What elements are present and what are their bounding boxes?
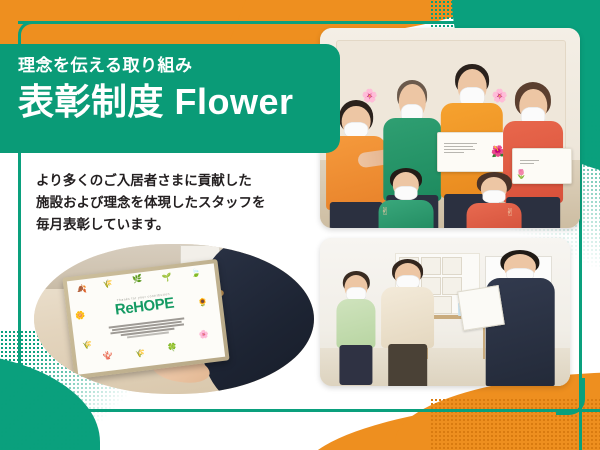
photo-award-ceremony: 表彰状を読み上げる表彰式の様子 <box>320 238 570 386</box>
lead-line-1: より多くのご入居者さまに貢献した <box>36 170 316 192</box>
photo-framed-certificate: 額装された表彰状を持つスタッフ 🍂 🌾 🌿 🌱 🍃 🌼 🌻 🌾 🪸 <box>34 244 314 394</box>
certificate-frame: 🍂 🌾 🌿 🌱 🍃 🌼 🌻 🌾 🪸 🌾 🍀 🌸 Thanks for your … <box>62 259 229 379</box>
photo-staff-group: 表彰状と記念品を持つ介護スタッフの集合写真 🌸 🌸 <box>320 28 580 228</box>
group-peace-sign-left: ✌ <box>381 205 390 218</box>
poster-canvas: 表彰状と記念品を持つ介護スタッフの集合写真 🌸 🌸 <box>0 0 600 450</box>
botanical-grass: 🌾 <box>135 349 146 358</box>
ceremony-person-recipient <box>380 259 435 386</box>
headline-banner: 理念を伝える取り組み 表彰制度 Flower <box>0 44 340 153</box>
group-person-front-right: ✌ <box>466 172 523 228</box>
certificate-logo-block: Thanks for your contribution ReHOPE <box>70 286 219 323</box>
halftone-dots-bottom-right <box>430 398 600 450</box>
group-certificate-center: 🌺 <box>437 132 512 172</box>
botanical-coral: 🪸 <box>102 352 113 361</box>
rule-top-horizontal <box>18 21 600 24</box>
lead-paragraph: より多くのご入居者さまに貢献した 施設および理念を体現したスタッフを 毎月表彰し… <box>36 170 316 236</box>
certificate-paper: 🍂 🌾 🌿 🌱 🍃 🌼 🌻 🌾 🪸 🌾 🍀 🌸 Thanks for your … <box>67 263 225 374</box>
botanical-leaf-4: 🍀 <box>167 344 178 353</box>
botanical-leaf-2: 🌿 <box>132 275 143 284</box>
lead-line-3: 毎月表彰しています。 <box>36 214 316 236</box>
ceremony-person-background <box>335 271 378 383</box>
ceremony-certificate <box>457 285 505 332</box>
certificate-body-lines <box>108 316 186 342</box>
lead-line-2: 施設および理念を体現したスタッフを <box>36 192 316 214</box>
group-peace-sign-right: ✌ <box>506 206 515 219</box>
botanical-leaf-1: 🍂 <box>76 285 87 294</box>
orange-swoosh-bottom-right <box>300 396 600 450</box>
botanical-sprig-1: 🌾 <box>103 280 114 289</box>
botanical-flower-3: 🌸 <box>198 330 209 339</box>
group-person-front-left: ✌ <box>377 168 434 228</box>
banner-title: 表彰制度 Flower <box>18 83 340 121</box>
banner-kicker: 理念を伝える取り組み <box>18 57 340 76</box>
botanical-sprig-3: 🌾 <box>82 341 93 350</box>
botanical-leaf-3: 🍃 <box>191 269 202 278</box>
botanical-sprig-2: 🌱 <box>161 273 172 282</box>
rule-bottom-horizontal <box>0 409 600 412</box>
